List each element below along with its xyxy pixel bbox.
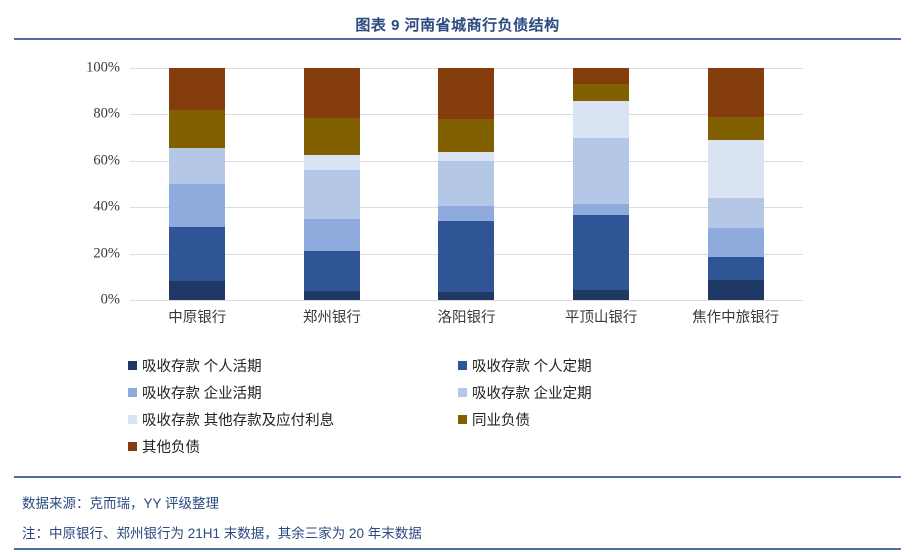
legend-swatch-icon [458,415,467,424]
x-axis-labels: 中原银行郑州银行洛阳银行平顶山银行焦作中旅银行 [130,306,803,327]
bar-column[interactable] [573,68,629,300]
source-note: 数据来源：克而瑞，YY 评级整理 [22,492,219,512]
y-axis-tick-label: 40% [30,199,120,216]
legend-label: 同业负债 [472,409,530,430]
legend-item[interactable]: 吸收存款 其他存款及应付利息 [128,406,458,433]
bar-segment[interactable] [304,118,360,155]
bar-segment[interactable] [438,152,494,161]
legend-item[interactable]: 吸收存款 企业定期 [458,379,788,406]
bar-segment[interactable] [708,198,764,228]
x-axis-tick-label: 洛阳银行 [410,306,522,327]
bar-segment[interactable] [573,101,629,138]
bar-segment[interactable] [438,119,494,151]
x-axis-tick-label: 焦作中旅银行 [680,306,792,327]
chart-legend: 吸收存款 个人活期吸收存款 个人定期吸收存款 企业活期吸收存款 企业定期吸收存款… [128,352,788,460]
bar-segment[interactable] [304,219,360,251]
legend-item[interactable]: 同业负债 [458,406,788,433]
legend-label: 吸收存款 企业活期 [142,382,262,403]
bar-column[interactable] [438,68,494,300]
bar-segment[interactable] [304,155,360,170]
legend-item[interactable]: 吸收存款 企业活期 [128,379,458,406]
legend-label: 吸收存款 企业定期 [472,382,592,403]
divider-top [14,38,901,40]
x-axis-tick-label: 平顶山银行 [545,306,657,327]
bar-segment[interactable] [169,110,225,148]
bar-segment[interactable] [304,251,360,290]
legend-swatch-icon [128,388,137,397]
bar-column[interactable] [169,68,225,300]
legend-label: 其他负债 [142,436,200,457]
bar-segment[interactable] [169,148,225,184]
page-title: 图表 9 河南省城商行负债结构 [355,17,559,34]
legend-swatch-icon [458,361,467,370]
bar-segment[interactable] [169,68,225,110]
bar-segment[interactable] [573,68,629,84]
bar-column[interactable] [304,68,360,300]
bar-segment[interactable] [708,117,764,140]
legend-label: 吸收存款 个人定期 [472,355,592,376]
bar-segment[interactable] [708,68,764,117]
bar-segment[interactable] [573,138,629,204]
y-axis-tick-label: 60% [30,152,120,169]
gridline [130,300,803,301]
bar-segment[interactable] [573,204,629,216]
legend-swatch-icon [128,415,137,424]
divider-bottom [14,476,901,478]
footnote: 注：中原银行、郑州银行为 21H1 末数据，其余三家为 20 年末数据 [22,522,422,542]
stacked-bar-series [130,68,803,300]
legend-swatch-icon [128,442,137,451]
bar-segment[interactable] [169,184,225,227]
bar-segment[interactable] [304,291,360,300]
x-axis-tick-label: 中原银行 [141,306,253,327]
y-axis-tick-label: 80% [30,106,120,123]
bar-segment[interactable] [438,221,494,292]
bar-segment[interactable] [573,84,629,100]
bar-segment[interactable] [169,227,225,282]
bar-column[interactable] [708,68,764,300]
bar-segment[interactable] [708,228,764,257]
legend-swatch-icon [128,361,137,370]
bar-segment[interactable] [304,68,360,118]
divider-end [14,548,901,550]
bar-segment[interactable] [169,281,225,300]
legend-label: 吸收存款 其他存款及应付利息 [142,409,334,430]
bar-segment[interactable] [438,161,494,206]
legend-swatch-icon [458,388,467,397]
bar-segment[interactable] [708,140,764,198]
legend-label: 吸收存款 个人活期 [142,355,262,376]
y-axis-tick-label: 0% [30,292,120,309]
chart-area: 0%20%40%60%80%100% 中原银行郑州银行洛阳银行平顶山银行焦作中旅… [0,44,915,344]
y-axis-tick-label: 20% [30,245,120,262]
bar-segment[interactable] [438,206,494,221]
bar-segment[interactable] [708,257,764,280]
bar-segment[interactable] [573,215,629,289]
x-axis-tick-label: 郑州银行 [276,306,388,327]
legend-item[interactable]: 其他负债 [128,433,458,460]
chart-title-bar: 图表 9 河南省城商行负债结构 [0,14,915,35]
bar-segment[interactable] [573,290,629,300]
bar-segment[interactable] [438,292,494,300]
bar-segment[interactable] [304,170,360,219]
legend-item[interactable]: 吸收存款 个人定期 [458,352,788,379]
bar-segment[interactable] [708,280,764,300]
legend-item[interactable]: 吸收存款 个人活期 [128,352,458,379]
bar-segment[interactable] [438,68,494,119]
y-axis-tick-label: 100% [30,60,120,77]
chart-page: 图表 9 河南省城商行负债结构 0%20%40%60%80%100% 中原银行郑… [0,0,915,552]
